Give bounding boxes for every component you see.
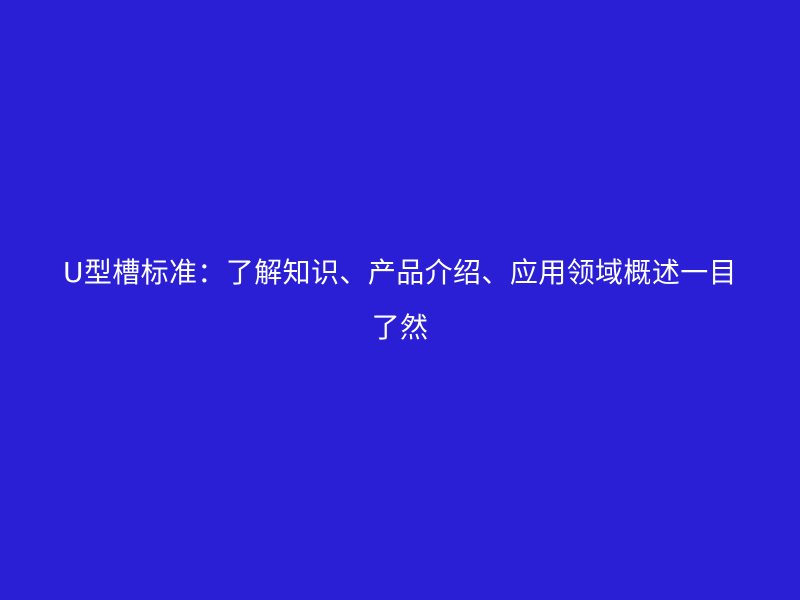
page-title: U型槽标准：了解知识、产品介绍、应用领域概述一目了然: [50, 245, 750, 355]
slide-canvas: U型槽标准：了解知识、产品介绍、应用领域概述一目了然: [0, 0, 800, 600]
headline-block: U型槽标准：了解知识、产品介绍、应用领域概述一目了然: [50, 245, 750, 355]
